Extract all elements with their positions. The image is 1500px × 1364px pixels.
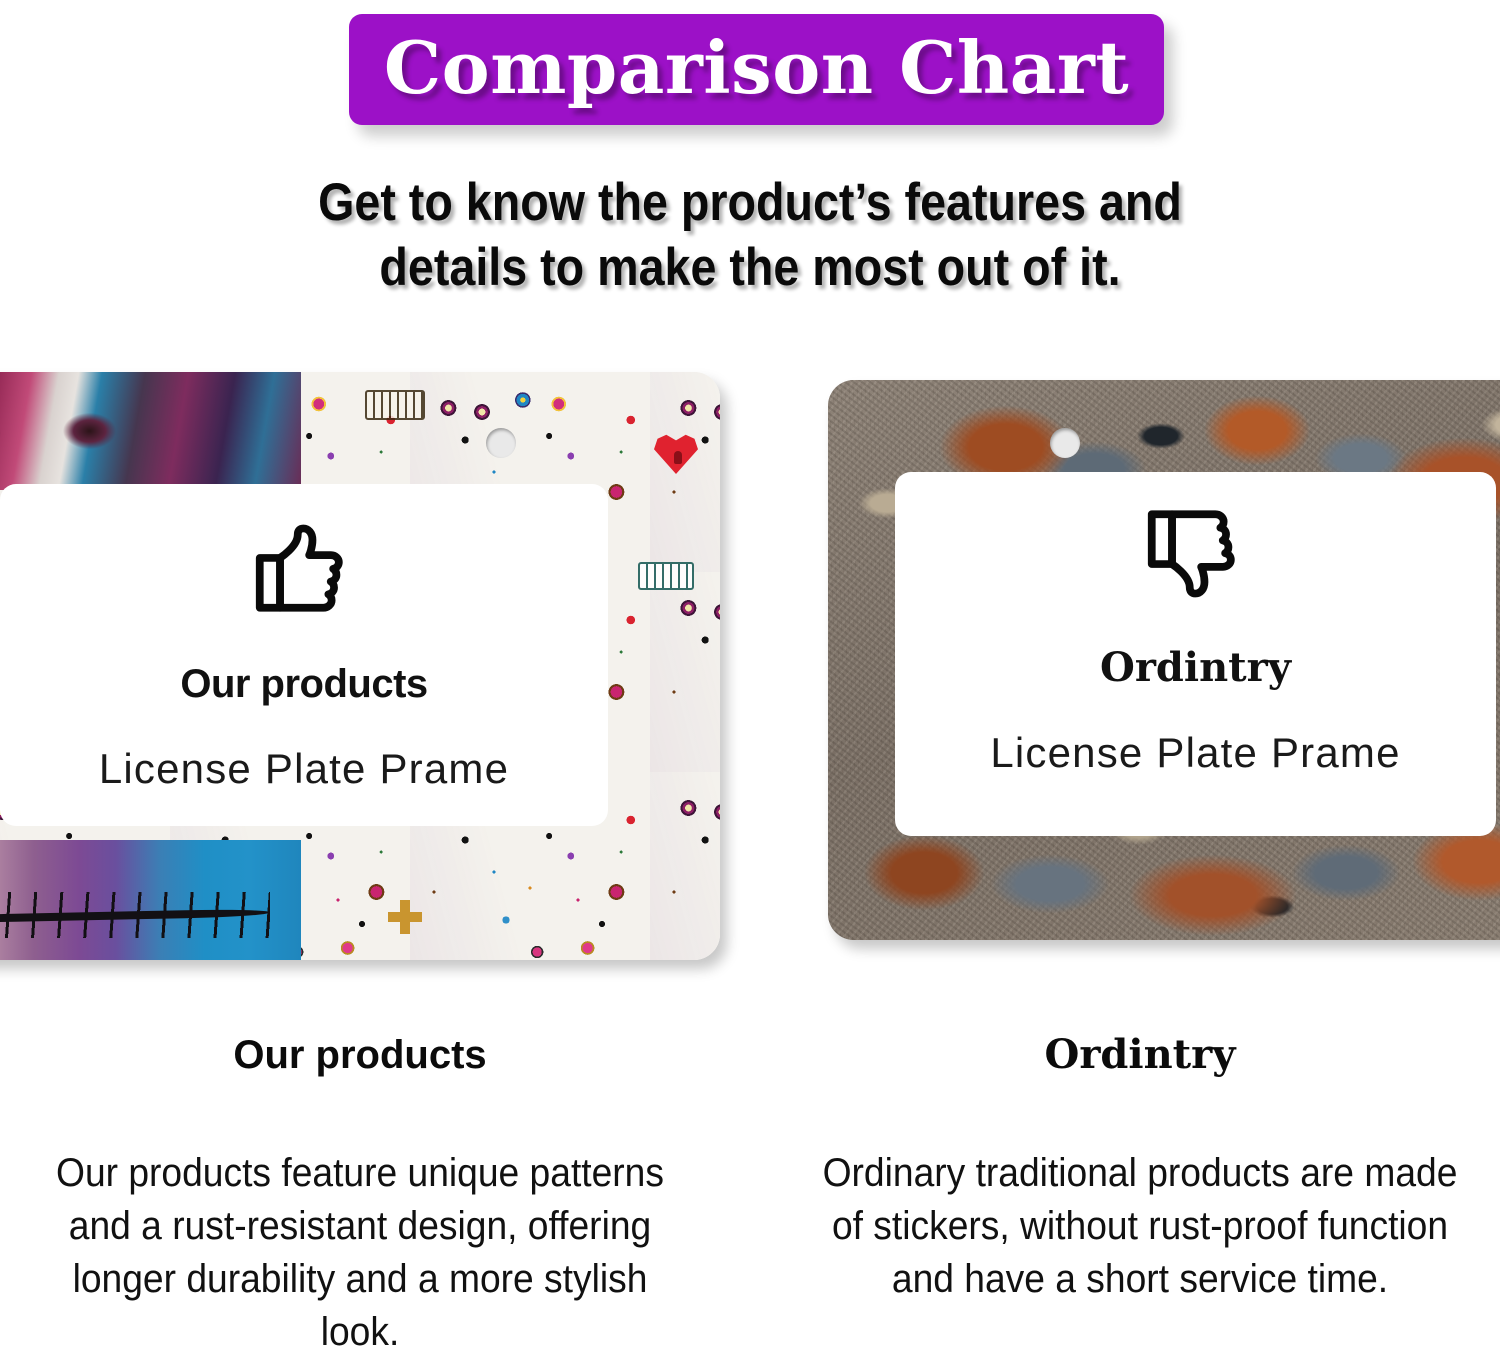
plate-frame-body-left: Our products License Plate Prame: [0, 372, 720, 960]
subtitle-line-1: Get to know the product’s features and: [90, 170, 1410, 235]
subtitle-line-2: details to make the most out of it.: [90, 235, 1410, 300]
subtitle: Get to know the product’s features and d…: [90, 170, 1410, 300]
ordintry-column: Ordintry Ordinary traditional products a…: [790, 1035, 1490, 1306]
thumbs-up-icon: [245, 510, 363, 628]
left-window-content: Our products License Plate Prame: [0, 484, 608, 826]
plate-frame-body-right: Ordintry License Plate Prame: [828, 380, 1500, 940]
right-window-heading: Ordintry: [1100, 648, 1291, 688]
page-title: Comparison Chart: [384, 32, 1129, 104]
left-column-body: Our products feature unique patterns and…: [35, 1147, 686, 1359]
stitch-marks: [0, 892, 270, 938]
right-window-content: Ordintry License Plate Prame: [895, 472, 1496, 836]
ordintry-plate-frame: Ordintry License Plate Prame: [828, 380, 1500, 940]
mounting-hole-right: [1050, 428, 1080, 458]
skull-teeth-motif: [365, 390, 425, 420]
plate-window-right: Ordintry License Plate Prame: [895, 472, 1496, 836]
left-column-heading: Our products: [10, 1035, 710, 1075]
our-products-column: Our products Our products feature unique…: [10, 1035, 710, 1359]
our-products-plate-frame: Our products License Plate Prame: [0, 372, 720, 960]
thumbs-down-icon: [1137, 494, 1255, 612]
skull-teeth-motif-2: [638, 562, 694, 590]
right-column-body: Ordinary traditional products are made o…: [815, 1147, 1466, 1306]
left-window-heading: Our products: [180, 664, 427, 704]
mounting-hole-left: [486, 428, 516, 458]
left-window-subheading: License Plate Prame: [99, 748, 509, 790]
right-window-subheading: License Plate Prame: [990, 732, 1400, 774]
plate-window-left: Our products License Plate Prame: [0, 484, 608, 826]
painted-face-eyes-band: [0, 372, 301, 490]
cross-motif: [388, 900, 422, 934]
right-column-heading: Ordintry: [790, 1035, 1490, 1075]
title-banner: Comparison Chart: [349, 14, 1164, 125]
